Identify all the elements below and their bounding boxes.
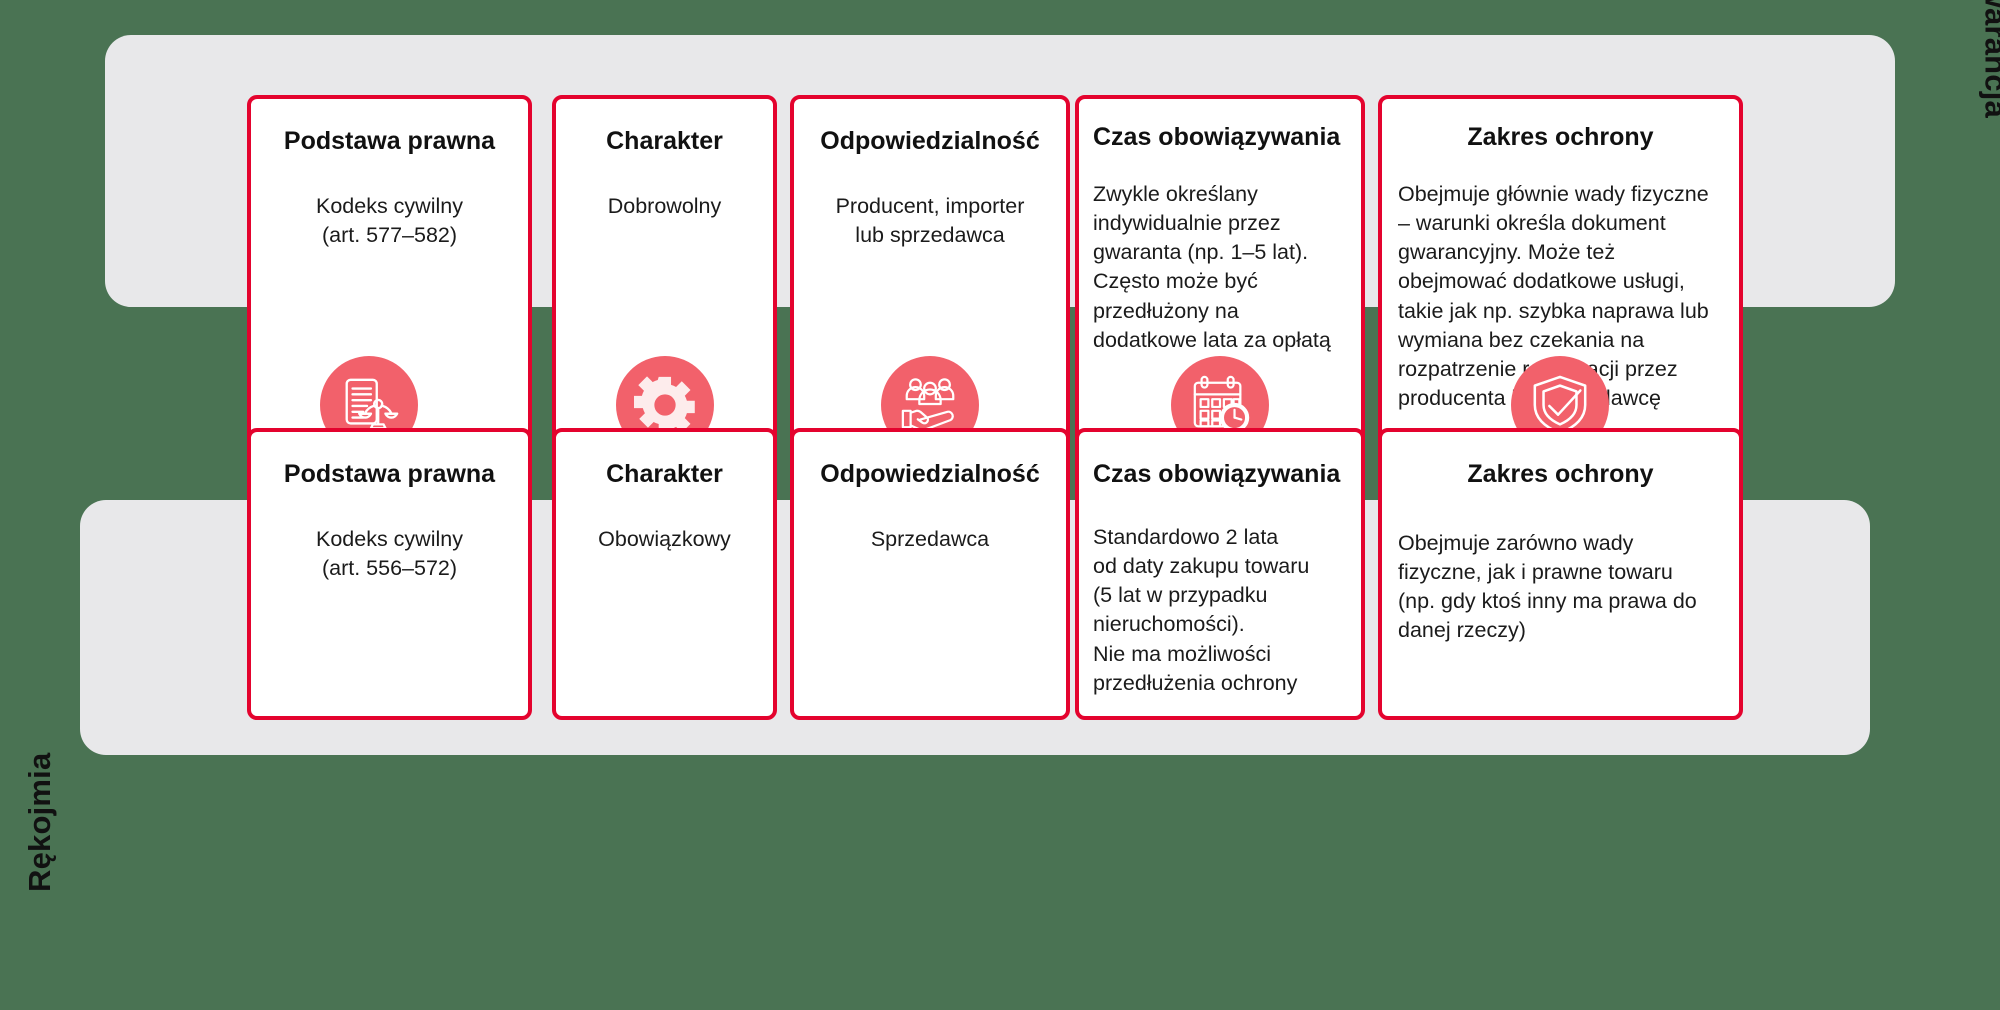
card-body: Sprzedawca xyxy=(810,525,1050,554)
card-title: Odpowiedzialność xyxy=(810,460,1050,489)
card-body: Zwykle określany indywidualnie przez gwa… xyxy=(1093,180,1347,355)
card-body: Obowiązkowy xyxy=(572,525,757,554)
card-title: Zakres ochrony xyxy=(1398,460,1723,489)
calendar-clock-icon xyxy=(1189,374,1251,436)
card-title: Odpowiedzialność xyxy=(810,127,1050,156)
rekojmia-section-label: Rękojmia xyxy=(22,753,58,892)
card-title: Charakter xyxy=(572,460,757,489)
rekojmia-card-charakter: Charakter Obowiązkowy xyxy=(552,428,777,720)
rekojmia-card-podstawa-prawna: Podstawa prawna Kodeks cywilny (art. 556… xyxy=(247,428,532,720)
card-body: Obejmuje zarówno wady fizyczne, jak i pr… xyxy=(1398,529,1723,646)
card-body: Kodeks cywilny (art. 556–572) xyxy=(267,525,512,583)
infographic-canvas: Gwarancja Rękojmia Podstawa prawna Kodek… xyxy=(0,0,2000,1010)
hand-people-icon xyxy=(899,374,961,436)
rekojmia-card-odpowiedzialnosc: Odpowiedzialność Sprzedawca xyxy=(790,428,1070,720)
card-body: Kodeks cywilny (art. 577–582) xyxy=(267,192,512,250)
rekojmia-card-zakres-ochrony: Zakres ochrony Obejmuje zarówno wady fiz… xyxy=(1378,428,1743,720)
card-title: Zakres ochrony xyxy=(1398,123,1723,152)
card-title: Czas obowiązywania xyxy=(1093,123,1347,152)
gwarancja-section-label: Gwarancja xyxy=(1978,0,2000,118)
card-body: Standardowo 2 lata od daty zakupu towaru… xyxy=(1093,523,1347,698)
card-title: Podstawa prawna xyxy=(267,460,512,489)
card-body: Producent, importer lub sprzedawca xyxy=(810,192,1050,250)
rekojmia-card-czas-obowiazywania: Czas obowiązywania Standardowo 2 lata od… xyxy=(1075,428,1365,720)
card-title: Charakter xyxy=(572,127,757,156)
document-scales-icon xyxy=(338,374,400,436)
card-title: Czas obowiązywania xyxy=(1093,460,1347,489)
card-body: Dobrowolny xyxy=(572,192,757,221)
card-title: Podstawa prawna xyxy=(267,127,512,156)
gear-icon xyxy=(634,374,696,436)
shield-check-icon xyxy=(1529,374,1591,436)
